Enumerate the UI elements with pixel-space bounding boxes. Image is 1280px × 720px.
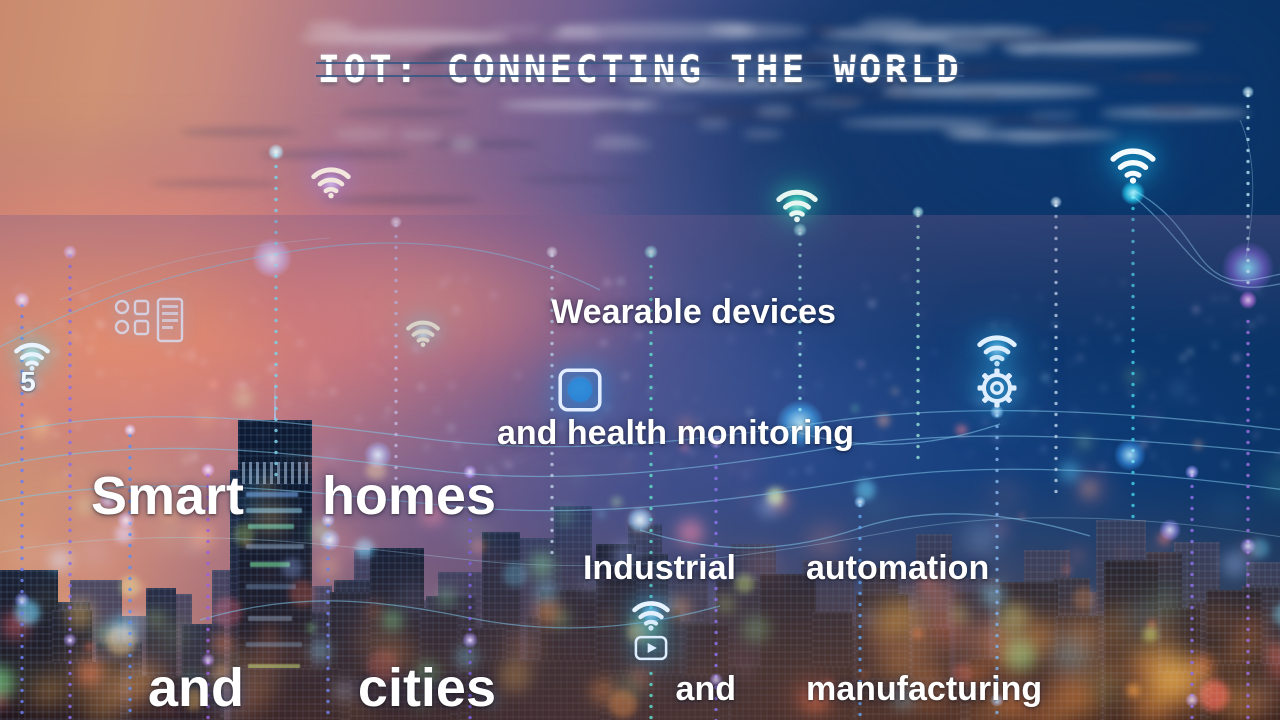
network-node — [1050, 196, 1062, 208]
wifi-icon — [310, 166, 352, 199]
network-node — [1240, 538, 1256, 554]
dotted-connection-line — [1054, 200, 1059, 500]
network-node — [1239, 291, 1257, 309]
page-title: IoT: Connecting the World — [0, 48, 1280, 91]
caption-smart-left: Smart and — [62, 338, 244, 720]
caption-industrial-left: Industrial and — [548, 468, 736, 720]
network-node — [1222, 242, 1274, 294]
network-generation-label: 5 — [20, 366, 36, 398]
network-node — [63, 245, 77, 259]
network-generation-badge: 5 — [20, 366, 36, 398]
iot-slide: 5 IoT: Connecting the World Wearable dev… — [0, 0, 1280, 720]
caption-wearable-line1: Wearable devices — [497, 292, 836, 332]
caption-industrial-left-line2: and — [548, 669, 736, 709]
network-node — [1159, 519, 1181, 541]
caption-smart-right-line2: cities — [300, 657, 496, 720]
network-node — [14, 592, 30, 608]
gear-icon — [977, 368, 1017, 408]
caption-smart-right-line1: homes — [300, 465, 496, 529]
caption-industrial-right-line1: automation — [806, 548, 1068, 588]
caption-smart-right: homes cities — [300, 338, 496, 720]
network-node — [268, 144, 284, 160]
network-node — [14, 292, 30, 308]
network-node — [1114, 439, 1146, 471]
caption-industrial-right: automation manufacturing — [806, 468, 1068, 720]
caption-industrial-right-line2: manufacturing — [806, 669, 1068, 709]
wifi-icon — [1109, 146, 1157, 183]
network-node — [1121, 181, 1145, 205]
caption-smart-left-line1: Smart — [62, 465, 244, 529]
dotted-connection-line — [1246, 316, 1251, 720]
network-node — [1185, 465, 1199, 479]
dotted-connection-line — [274, 150, 279, 480]
network-node — [912, 206, 924, 218]
caption-smart-left-line2: and — [62, 657, 244, 720]
network-node — [252, 238, 292, 278]
dotted-connection-line — [916, 210, 921, 460]
wifi-icon — [976, 334, 1018, 367]
network-node — [1185, 693, 1199, 707]
dotted-connection-line — [1190, 470, 1195, 720]
network-node — [390, 216, 402, 228]
caption-wearable-line2: and health monitoring — [497, 413, 854, 453]
caption-industrial-left-line1: Industrial — [548, 548, 736, 588]
dotted-connection-line — [1131, 192, 1136, 522]
page-title-text: IoT: Connecting the World — [318, 48, 962, 91]
